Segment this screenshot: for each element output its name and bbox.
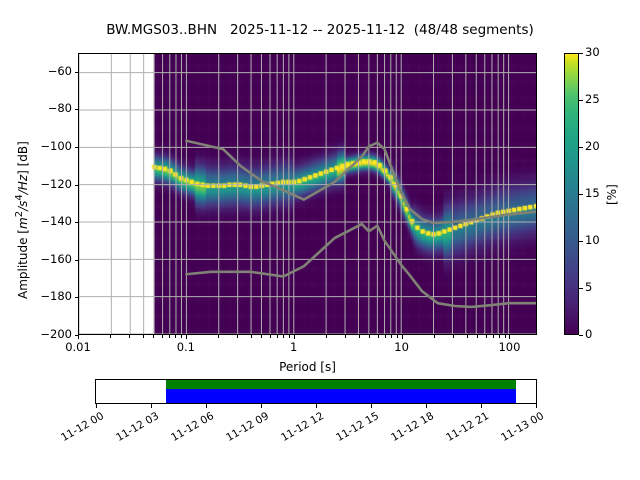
y-tick-mark (75, 222, 79, 223)
x-minor-tick-mark (261, 335, 262, 338)
x-minor-tick-mark (499, 335, 500, 338)
timeline-tick-mark (371, 404, 372, 408)
timeline-tick-mark (206, 404, 207, 408)
x-minor-tick-mark (467, 335, 468, 338)
timeline-tick-mark (316, 404, 317, 408)
timeline-tick-label: 11-13 00 (492, 410, 546, 448)
y-tick-label: −200 (14, 327, 72, 341)
x-minor-tick-mark (175, 335, 176, 338)
x-minor-tick-mark (434, 335, 435, 338)
x-tick-mark (402, 335, 403, 339)
timeline-tick-label: 11-12 21 (437, 410, 491, 448)
y-tick-mark (75, 109, 79, 110)
page-title: BW.MGS03..BHN 2025-11-12 -- 2025-11-12 (… (0, 22, 640, 38)
x-tick-mark (294, 335, 295, 339)
x-minor-tick-mark (369, 335, 370, 338)
y-tick-mark (75, 185, 79, 186)
x-minor-tick-mark (162, 335, 163, 338)
colorbar-tick-label: 10 (585, 233, 600, 247)
timeline-tick-mark (536, 404, 537, 408)
colorbar-tick-label: 25 (585, 92, 600, 106)
y-tick-label: −120 (14, 177, 72, 191)
data-coverage-blue (166, 389, 516, 403)
x-tick-label: 0.01 (48, 340, 108, 354)
y-tick-mark (75, 72, 79, 73)
x-minor-tick-mark (153, 335, 154, 338)
x-tick-mark (509, 335, 510, 339)
x-minor-tick-mark (486, 335, 487, 338)
colorbar-tick-mark (579, 335, 583, 336)
colorbar-tick-label: 15 (585, 186, 600, 200)
y-tick-label: −140 (14, 214, 72, 228)
timeline-tick-mark (96, 404, 97, 408)
x-tick-mark (186, 335, 187, 339)
x-minor-tick-mark (237, 335, 238, 338)
x-minor-tick-mark (277, 335, 278, 338)
timeline-tick-label: 11-12 18 (382, 410, 436, 448)
y-tick-label: −100 (14, 139, 72, 153)
x-minor-tick-mark (477, 335, 478, 338)
x-tick-label: 100 (479, 340, 539, 354)
timeline-coverage-axes[interactable] (95, 379, 537, 404)
colorbar-tick-mark (579, 194, 583, 195)
timeline-tick-label: 11-12 09 (217, 410, 271, 448)
timeline-tick-label: 11-12 03 (107, 410, 161, 448)
colorbar-label: [%] (605, 184, 619, 205)
x-minor-tick-mark (181, 335, 182, 338)
x-minor-tick-mark (378, 335, 379, 338)
timeline-tick-label: 11-12 00 (52, 410, 106, 448)
x-minor-tick-mark (453, 335, 454, 338)
colorbar-tick-label: 20 (585, 139, 600, 153)
y-tick-mark (75, 260, 79, 261)
noise-model-curves (79, 54, 536, 334)
timeline-tick-mark (481, 404, 482, 408)
x-minor-tick-mark (283, 335, 284, 338)
colorbar-tick-label: 5 (585, 280, 592, 294)
y-tick-label: −60 (14, 64, 72, 78)
colorbar-tick-label: 0 (585, 327, 592, 341)
colorbar-tick-mark (579, 241, 583, 242)
x-minor-tick-mark (270, 335, 271, 338)
y-tick-mark (75, 297, 79, 298)
x-minor-tick-mark (289, 335, 290, 338)
x-minor-tick-mark (251, 335, 252, 338)
colorbar-tick-mark (579, 53, 583, 54)
x-minor-tick-mark (397, 335, 398, 338)
timeline-tick-label: 11-12 15 (327, 410, 381, 448)
colorbar-tick-label: 30 (585, 45, 600, 59)
x-minor-tick-mark (218, 335, 219, 338)
ppsd-figure: BW.MGS03..BHN 2025-11-12 -- 2025-11-12 (… (0, 0, 640, 480)
x-tick-label: 10 (372, 340, 432, 354)
colorbar (564, 53, 579, 335)
x-minor-tick-mark (385, 335, 386, 338)
y-tick-mark (75, 147, 79, 148)
x-tick-mark (78, 335, 79, 339)
x-axis-label: Period [s] (78, 360, 537, 374)
x-minor-tick-mark (143, 335, 144, 338)
timeline-tick-mark (151, 404, 152, 408)
x-minor-tick-mark (110, 335, 111, 338)
timeline-tick-label: 11-12 12 (272, 410, 326, 448)
x-minor-tick-mark (129, 335, 130, 338)
x-minor-tick-mark (169, 335, 170, 338)
y-tick-label: −180 (14, 289, 72, 303)
ppsd-plot-area (78, 53, 537, 335)
y-tick-label: −80 (14, 101, 72, 115)
timeline-tick-label: 11-12 06 (162, 410, 216, 448)
data-coverage-green (166, 380, 516, 389)
x-minor-tick-mark (359, 335, 360, 338)
x-minor-tick-mark (493, 335, 494, 338)
x-minor-tick-mark (391, 335, 392, 338)
x-tick-label: 0.1 (156, 340, 216, 354)
x-minor-tick-mark (505, 335, 506, 338)
timeline-tick-mark (426, 404, 427, 408)
y-tick-label: −160 (14, 252, 72, 266)
x-tick-label: 1 (264, 340, 324, 354)
timeline-tick-mark (261, 404, 262, 408)
x-minor-tick-mark (326, 335, 327, 338)
colorbar-tick-mark (579, 147, 583, 148)
colorbar-tick-mark (579, 288, 583, 289)
colorbar-tick-mark (579, 100, 583, 101)
x-minor-tick-mark (345, 335, 346, 338)
